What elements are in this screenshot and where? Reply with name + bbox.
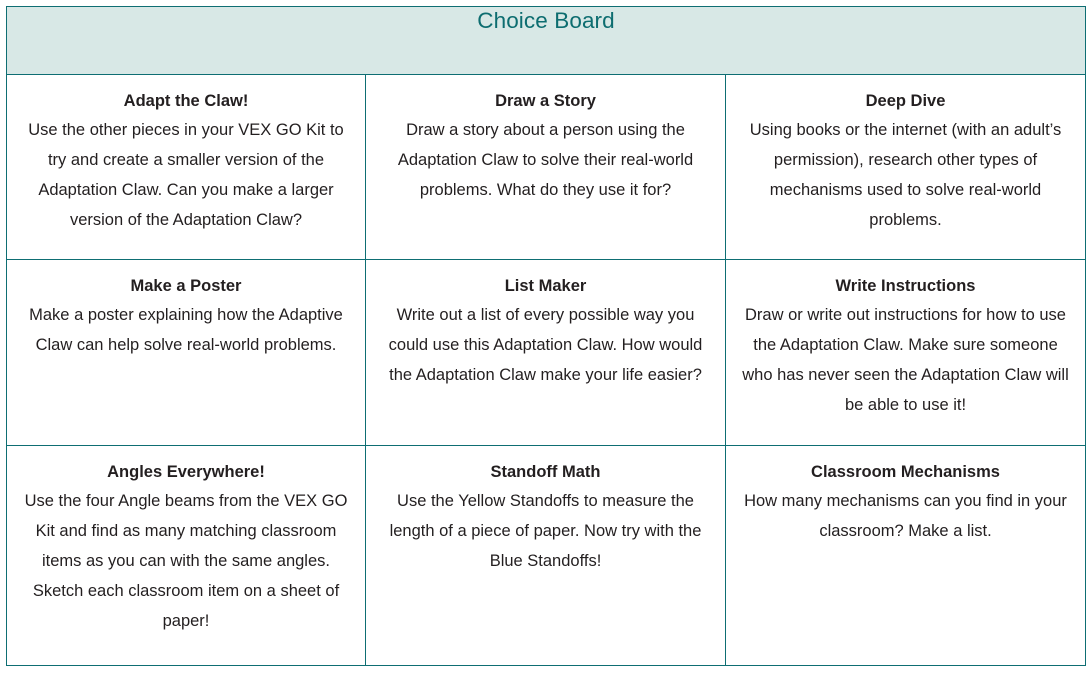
choice-cell-body: Draw a story about a person using the Ad… [380,115,711,205]
page-title: Choice Board [7,7,1085,34]
choice-cell-inner: Write Instructions Draw or write out ins… [740,274,1071,420]
board-row-2: Make a Poster Make a poster explaining h… [7,260,1086,445]
choice-cell-inner: Draw a Story Draw a story about a person… [380,89,711,205]
choice-cell-angles-everywhere[interactable]: Angles Everywhere! Use the four Angle be… [7,445,366,665]
choice-board-container: Choice Board Adapt the Claw! Use the oth… [6,6,1085,666]
choice-cell-inner: Adapt the Claw! Use the other pieces in … [21,89,351,235]
choice-cell-make-a-poster[interactable]: Make a Poster Make a poster explaining h… [7,260,366,445]
choice-cell-title: Standoff Math [380,460,711,485]
choice-cell-list-maker[interactable]: List Maker Write out a list of every pos… [366,260,726,445]
choice-cell-inner: Deep Dive Using books or the internet (w… [740,89,1071,235]
choice-cell-standoff-math[interactable]: Standoff Math Use the Yellow Standoffs t… [366,445,726,665]
choice-cell-body: Write out a list of every possible way y… [380,300,711,390]
choice-cell-body: Use the four Angle beams from the VEX GO… [21,486,351,636]
choice-board-table: Choice Board Adapt the Claw! Use the oth… [6,6,1086,666]
choice-cell-inner: List Maker Write out a list of every pos… [380,274,711,390]
choice-cell-title: Draw a Story [380,89,711,114]
choice-cell-body: Use the Yellow Standoffs to measure the … [380,486,711,576]
choice-cell-body: Use the other pieces in your VEX GO Kit … [21,115,351,235]
board-title-cell: Choice Board [7,7,1086,75]
board-row-1: Adapt the Claw! Use the other pieces in … [7,74,1086,259]
choice-cell-inner: Angles Everywhere! Use the four Angle be… [21,460,351,636]
choice-cell-body: How many mechanisms can you find in your… [740,486,1071,546]
choice-cell-adapt-the-claw[interactable]: Adapt the Claw! Use the other pieces in … [7,74,366,259]
choice-cell-body: Make a poster explaining how the Adaptiv… [21,300,351,360]
choice-cell-title: Adapt the Claw! [21,89,351,114]
choice-cell-deep-dive[interactable]: Deep Dive Using books or the internet (w… [726,74,1086,259]
choice-cell-title: Write Instructions [740,274,1071,299]
choice-cell-title: List Maker [380,274,711,299]
choice-cell-title: Classroom Mechanisms [740,460,1071,485]
choice-cell-title: Make a Poster [21,274,351,299]
choice-cell-write-instructions[interactable]: Write Instructions Draw or write out ins… [726,260,1086,445]
choice-cell-title: Angles Everywhere! [21,460,351,485]
choice-cell-draw-a-story[interactable]: Draw a Story Draw a story about a person… [366,74,726,259]
choice-cell-inner: Standoff Math Use the Yellow Standoffs t… [380,460,711,576]
choice-cell-title: Deep Dive [740,89,1071,114]
choice-cell-body: Using books or the internet (with an adu… [740,115,1071,235]
choice-cell-inner: Classroom Mechanisms How many mechanisms… [740,460,1071,546]
choice-cell-body: Draw or write out instructions for how t… [740,300,1071,420]
board-header-row: Choice Board [7,7,1086,75]
board-row-3: Angles Everywhere! Use the four Angle be… [7,445,1086,665]
choice-cell-inner: Make a Poster Make a poster explaining h… [21,274,351,360]
choice-cell-classroom-mechanisms[interactable]: Classroom Mechanisms How many mechanisms… [726,445,1086,665]
